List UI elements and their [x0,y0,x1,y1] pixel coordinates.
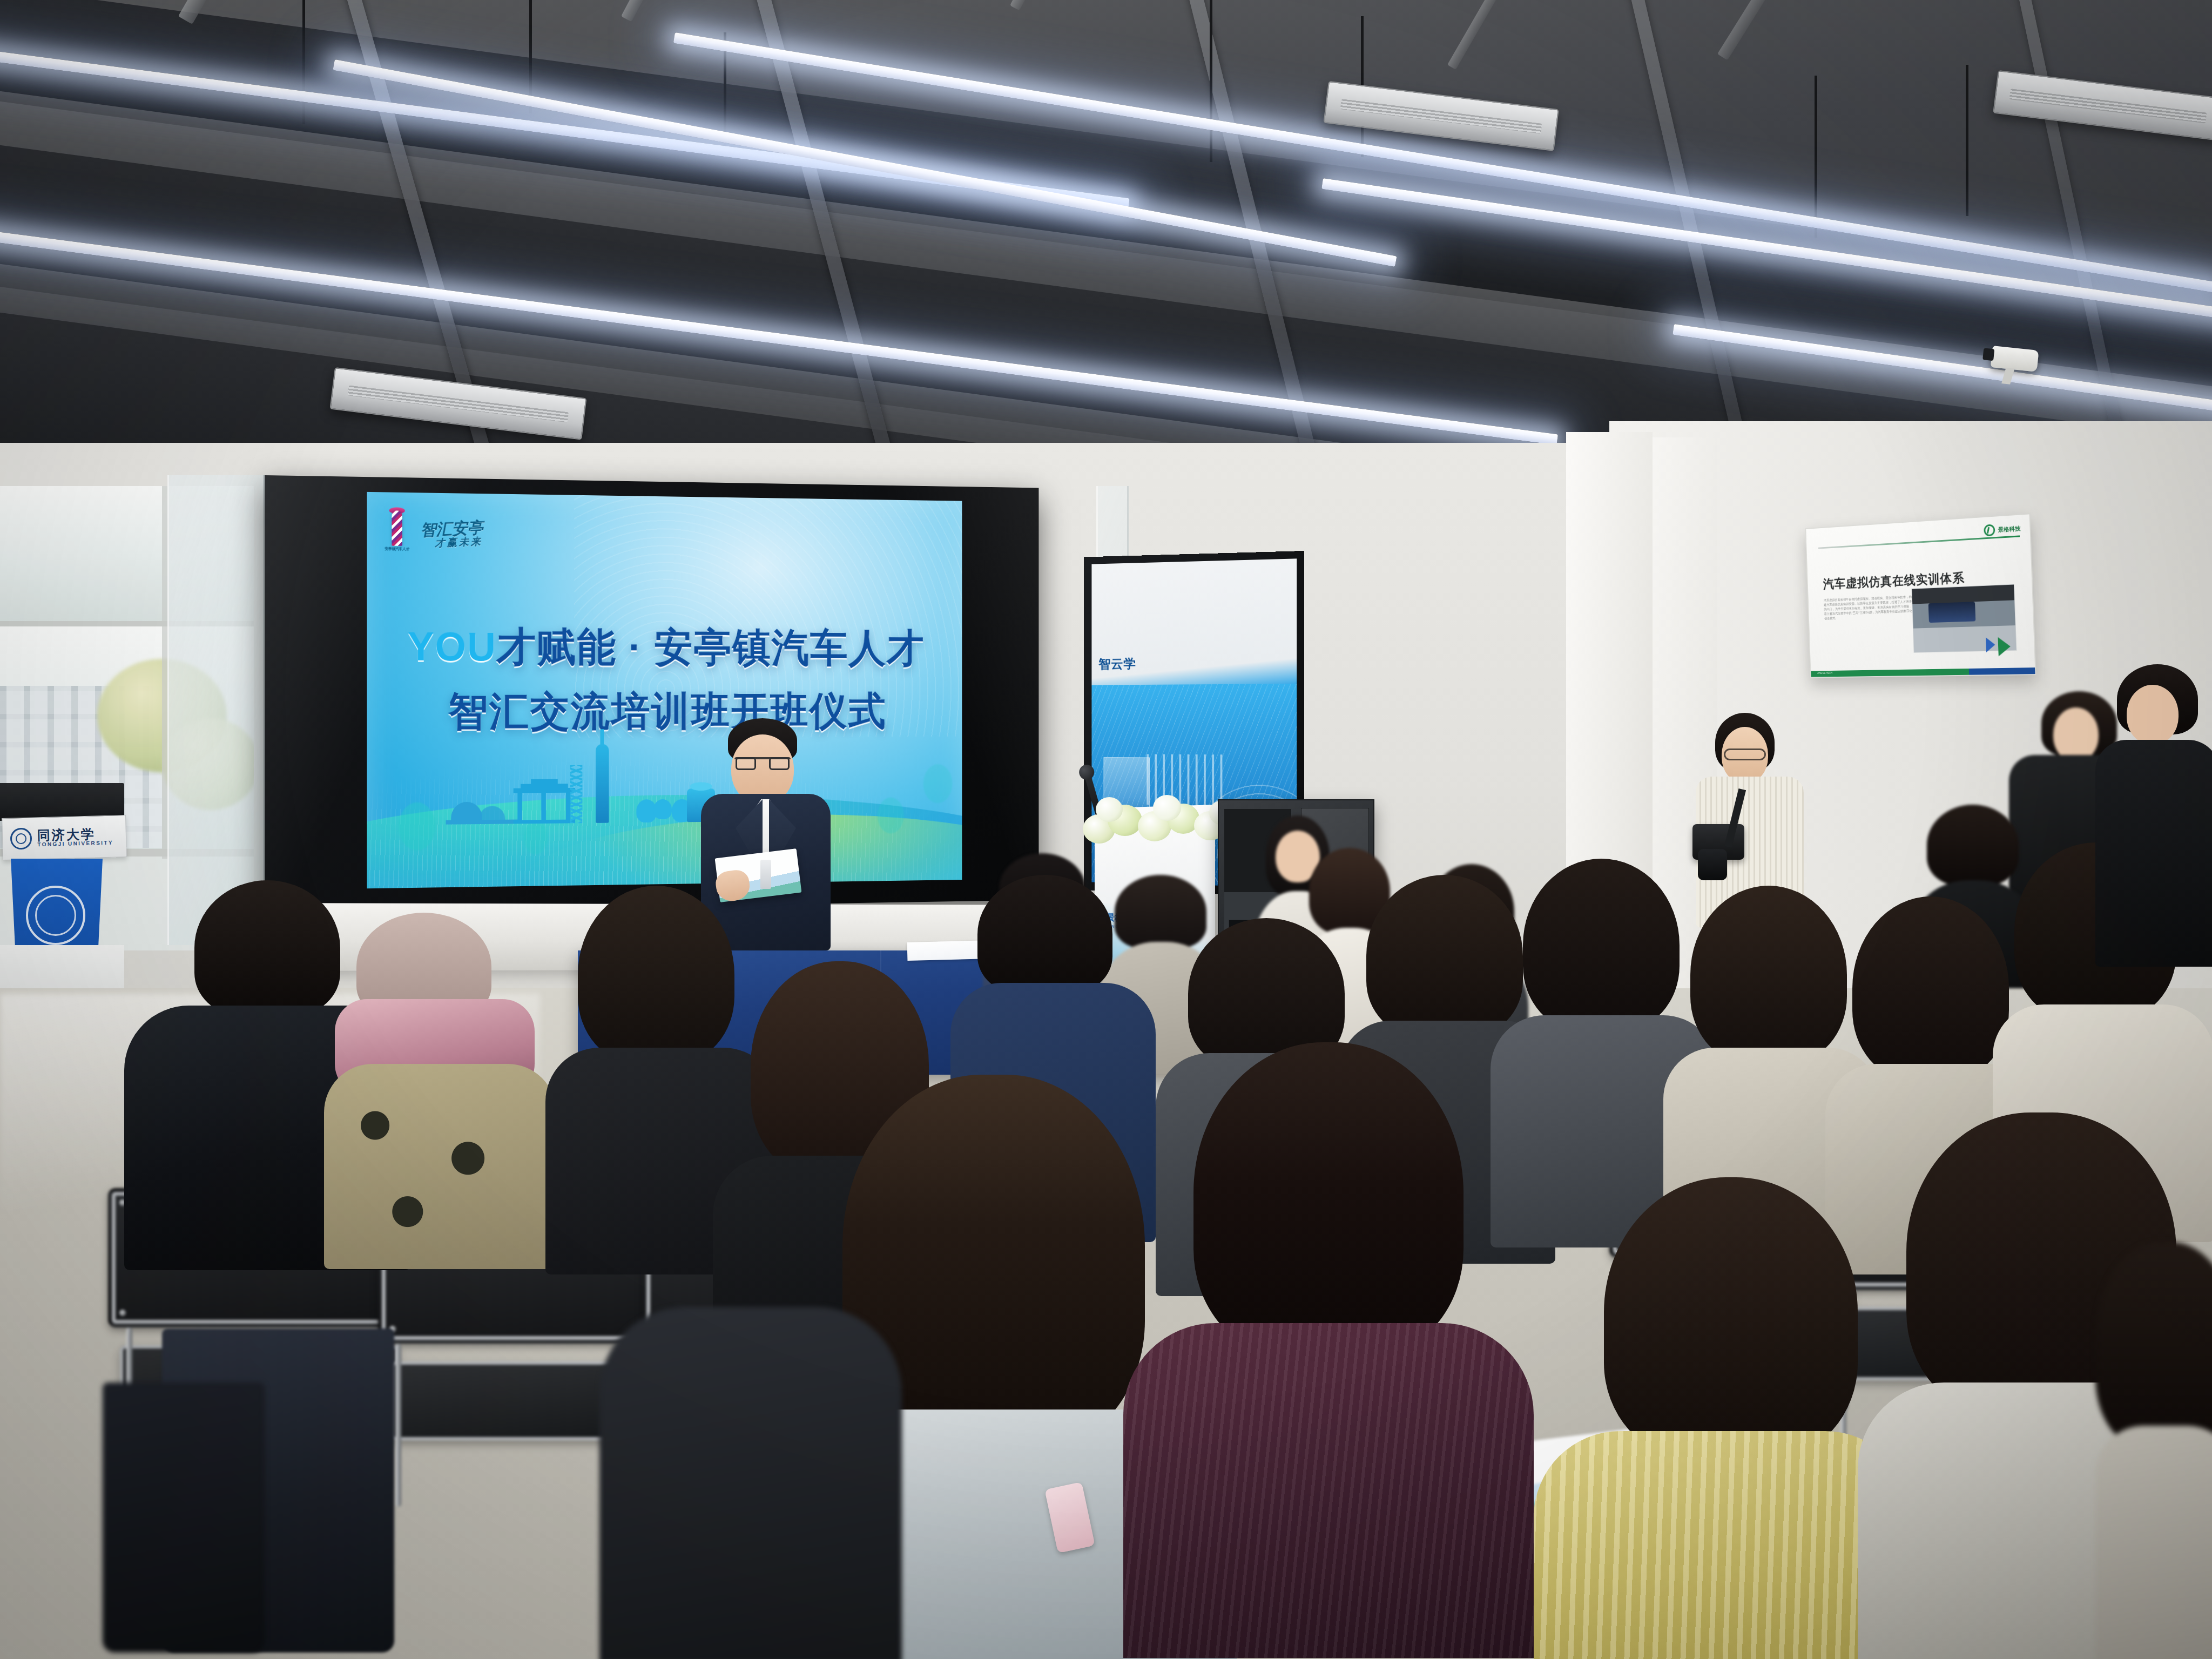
attendee-head [2127,685,2179,744]
speaker-glasses-lens [736,757,756,770]
attendee [324,913,556,1269]
anting-pillar-logo-icon: 安亭镇汽车人才 [388,510,406,557]
knit-texture [1534,1431,1912,1659]
ac-vent-icon [1323,81,1559,151]
attendee-hair [1604,1177,1858,1458]
tongji-name-en: TONGJI UNIVERSITY [37,840,113,848]
bridge-icon [446,787,519,825]
tongji-podium: 同济大学 TONGJI UNIVERSITY [0,783,130,1010]
attendee-hair [1852,896,2009,1080]
paifang-gate-icon [514,778,575,824]
photographer-glasses-icon [1724,748,1766,760]
attendee-foreground [2095,1242,2212,1659]
attendee-hair [1523,859,1680,1031]
attendee-foreground [1534,1177,1912,1659]
screen-logo-group: 安亭镇汽车人才 智汇安亭 才赢未来 [388,510,483,557]
attendee-foreground [599,1307,902,1659]
tongji-banner-seal-icon [26,886,85,945]
screen-logo-caption: 安亭镇汽车人才 [382,547,413,551]
glass-partition [167,475,265,945]
screen-script-logo: 智汇安亭 才赢未来 [420,520,484,549]
secondary-display-label: 智云学 [1098,656,1136,673]
speaker-glasses-lens [769,757,790,770]
flower-arrangement [1077,793,1239,852]
screen-content: 安亭镇汽车人才 智汇安亭 才赢未来 YOU才赋能 · 安亭镇汽车人才 智汇交流培… [367,492,962,888]
screen-title-rest: 才赋能 · 安亭镇汽车人才 [497,624,925,670]
attendee-hair [977,875,1112,994]
attendee-foreground [1123,1042,1534,1658]
attendee-hair [1690,886,1847,1064]
chevron-decor-icon [1986,628,2020,657]
tongji-nameplate: 同济大学 TONGJI UNIVERSITY [2,815,127,860]
attendee-hair [1193,1042,1464,1355]
attendee-coat-stripes [1123,1323,1534,1658]
attendee-top [2095,740,2212,967]
tower-icon [596,744,609,823]
wall-poster: 景格科技 JINGGE TECH 汽车虚拟仿真在线实训体系 汽车虚拟仿真实训平台… [1805,513,2036,678]
photo-scene: 安亭镇汽车人才 智汇安亭 才赢未来 YOU才赋能 · 安亭镇汽车人才 智汇交流培… [0,0,2212,1659]
dna-helix-icon [570,765,583,824]
poster-brand: 景格科技 JINGGE TECH [1984,522,2021,536]
screen-title-prefix: YOU [408,623,497,669]
poster-brand-name: 景格科技 [1998,525,2021,533]
poster-body-1: 汽车虚拟仿真实训平台依托虚拟现实、增强现实、混合现实等技术，构建汽车虚拟仿真实训… [1824,595,1912,621]
jingge-logo-icon [1984,524,1995,536]
poster-footer-note: JINGGE TECH [1817,671,1832,675]
speaker-badge-lanyard [760,860,771,889]
screen-script-line2: 才赢未来 [435,536,484,549]
tongji-seal-icon [10,828,32,850]
ac-vent-icon [1993,70,2212,141]
screen-skyline-graphic [367,711,962,888]
attendee [2095,664,2212,967]
attendee-hair [578,886,734,1064]
attendee-hair [194,880,340,1015]
screen-title: YOU才赋能 · 安亭镇汽车人才 [367,619,962,676]
attendee-floral-coat [324,1064,556,1269]
ceiling [0,0,2212,475]
draped-coat [103,1382,265,1653]
main-presentation-screen: 安亭镇汽车人才 智汇安亭 才赢未来 YOU才赋能 · 安亭镇汽车人才 智汇交流培… [265,475,1038,913]
